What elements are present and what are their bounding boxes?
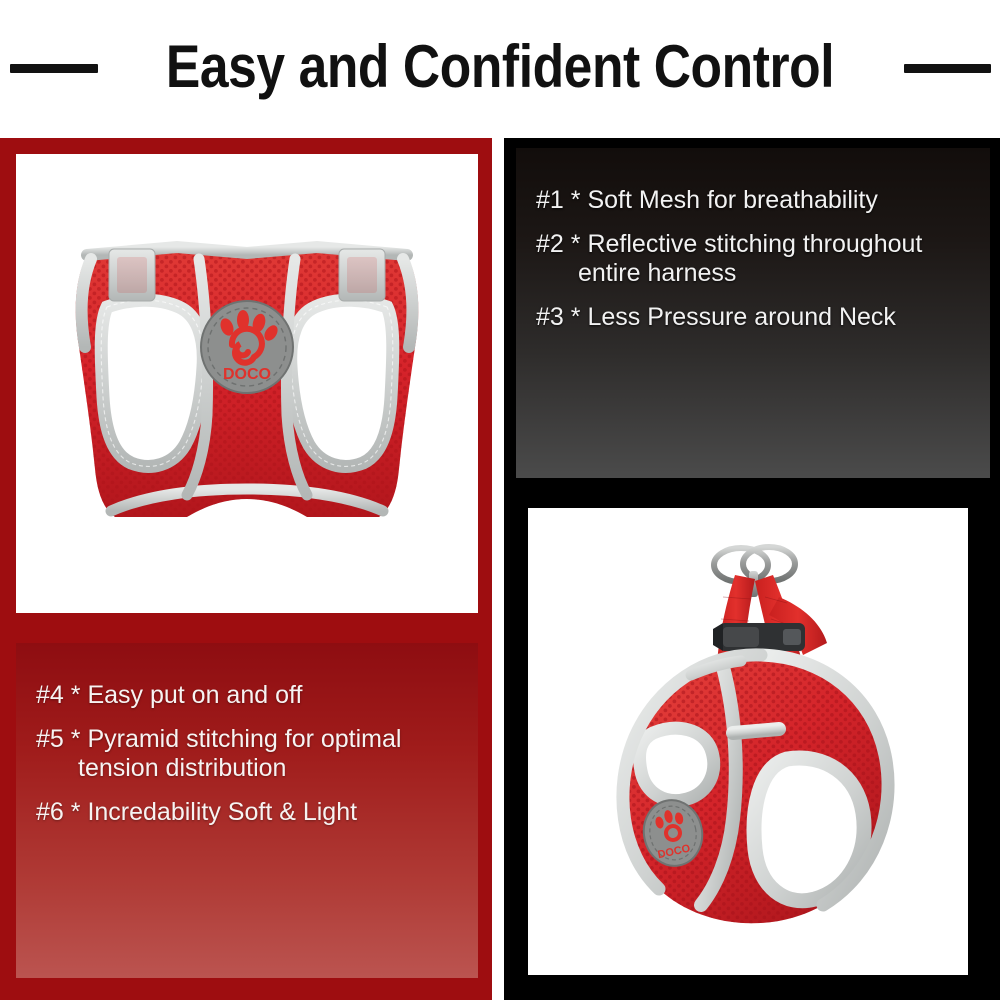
feature-item: #6 * Incredability Soft & Light xyxy=(36,800,470,826)
harness-front-illustration: DOCO xyxy=(47,219,447,549)
feature-panel-dark-inner: #1 * Soft Mesh for breathability #2 * Re… xyxy=(516,148,990,478)
feature-text-continued: tension distribution xyxy=(36,756,470,782)
feature-number: #3 xyxy=(536,303,564,331)
leg-opening-left xyxy=(101,300,203,466)
feature-item: #3 * Less Pressure around Neck xyxy=(536,305,982,331)
leg-opening-right xyxy=(291,300,393,466)
buckle-icon xyxy=(713,623,805,651)
feature-text: Incredability Soft & Light xyxy=(87,798,357,826)
product-photo-angle: DOCO xyxy=(528,508,968,975)
feature-separator: * xyxy=(71,798,81,826)
product-photo-front-panel: DOCO xyxy=(0,138,492,625)
feature-item: #4 * Easy put on and off xyxy=(36,683,470,709)
harness-angle-illustration: DOCO xyxy=(573,537,923,947)
feature-panel-red-inner: #4 * Easy put on and off #5 * Pyramid st… xyxy=(16,643,478,978)
feature-panel-dark: #1 * Soft Mesh for breathability #2 * Re… xyxy=(504,138,1000,488)
page-title: Easy and Confident Control xyxy=(70,30,930,102)
feature-item: #5 * Pyramid stitching for optimal tensi… xyxy=(36,727,470,782)
feature-item: #1 * Soft Mesh for breathability xyxy=(536,188,982,214)
feature-separator: * xyxy=(571,230,581,258)
feature-separator: * xyxy=(71,681,81,709)
feature-text: Less Pressure around Neck xyxy=(587,303,895,331)
feature-separator: * xyxy=(571,186,581,214)
feature-list-top: #1 * Soft Mesh for breathability #2 * Re… xyxy=(536,188,982,348)
feature-number: #2 xyxy=(536,230,564,258)
feature-number: #5 xyxy=(36,725,64,753)
feature-text-continued: entire harness xyxy=(536,261,982,287)
infographic-page: Easy and Confident Control xyxy=(0,0,1000,1000)
feature-number: #4 xyxy=(36,681,64,709)
feature-text: Easy put on and off xyxy=(87,681,302,709)
feature-item: #2 * Reflective stitching throughout ent… xyxy=(536,232,982,287)
header-banner: Easy and Confident Control xyxy=(0,0,1000,138)
product-photo-angle-panel: DOCO xyxy=(504,488,1000,1000)
feature-separator: * xyxy=(71,725,81,753)
title-dash-right-icon xyxy=(904,64,991,73)
feature-text: Soft Mesh for breathability xyxy=(587,186,877,214)
feature-number: #6 xyxy=(36,798,64,826)
feature-text: Reflective stitching throughout xyxy=(587,230,922,258)
feature-panel-red: #4 * Easy put on and off #5 * Pyramid st… xyxy=(0,625,492,1000)
leg-opening-angled-left xyxy=(640,728,714,800)
feature-separator: * xyxy=(571,303,581,331)
doco-logo-patch: DOCO xyxy=(201,301,293,393)
product-photo-front: DOCO xyxy=(16,154,478,613)
feature-list-bottom: #4 * Easy put on and off #5 * Pyramid st… xyxy=(36,683,470,843)
feature-number: #1 xyxy=(536,186,564,214)
logo-wordmark: DOCO xyxy=(223,366,271,383)
feature-text: Pyramid stitching for optimal xyxy=(87,725,401,753)
d-ring-hardware xyxy=(714,547,795,597)
